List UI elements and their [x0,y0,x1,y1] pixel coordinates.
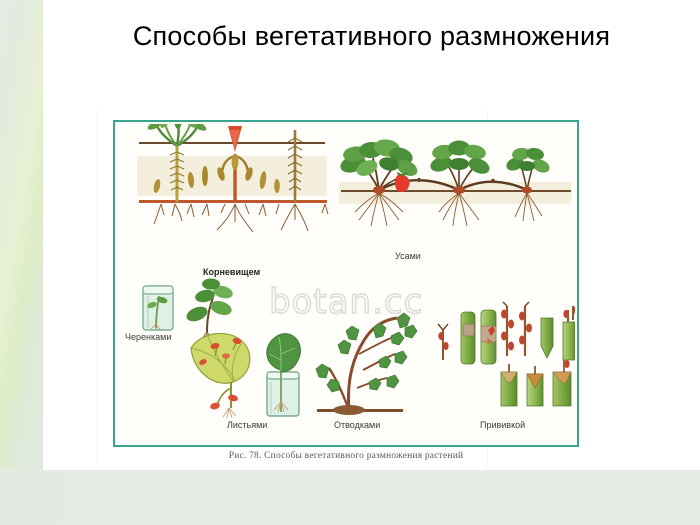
panel-label-runner: Усами [395,251,421,261]
page-title: Способы вегетативного размножения [43,14,700,58]
slide: Способы вегетативного размножения [0,0,700,525]
rhizome-illustration [135,124,335,243]
figure-frame: Корневищем [113,120,579,447]
panel-label-leaf: Листьями [227,420,267,430]
layering-illustration [313,310,433,414]
panel-label-rhizome: Корневищем [203,267,260,277]
panel-label-graft: Прививкой [480,420,525,430]
panel-label-layer: Отводками [334,420,380,430]
decorative-band-left [0,0,43,470]
runners-illustration [337,124,575,250]
grafting-illustration [437,302,575,414]
leaf-propagation-illustration [181,320,331,420]
decorative-band-bottom [0,470,700,525]
figure-card: Корневищем [97,110,487,468]
figure-caption: Рис. 78. Способы вегетативного размножен… [113,451,579,461]
panel-label-cutting: Черенками [125,332,171,342]
figure-plate: Корневищем [117,124,575,443]
